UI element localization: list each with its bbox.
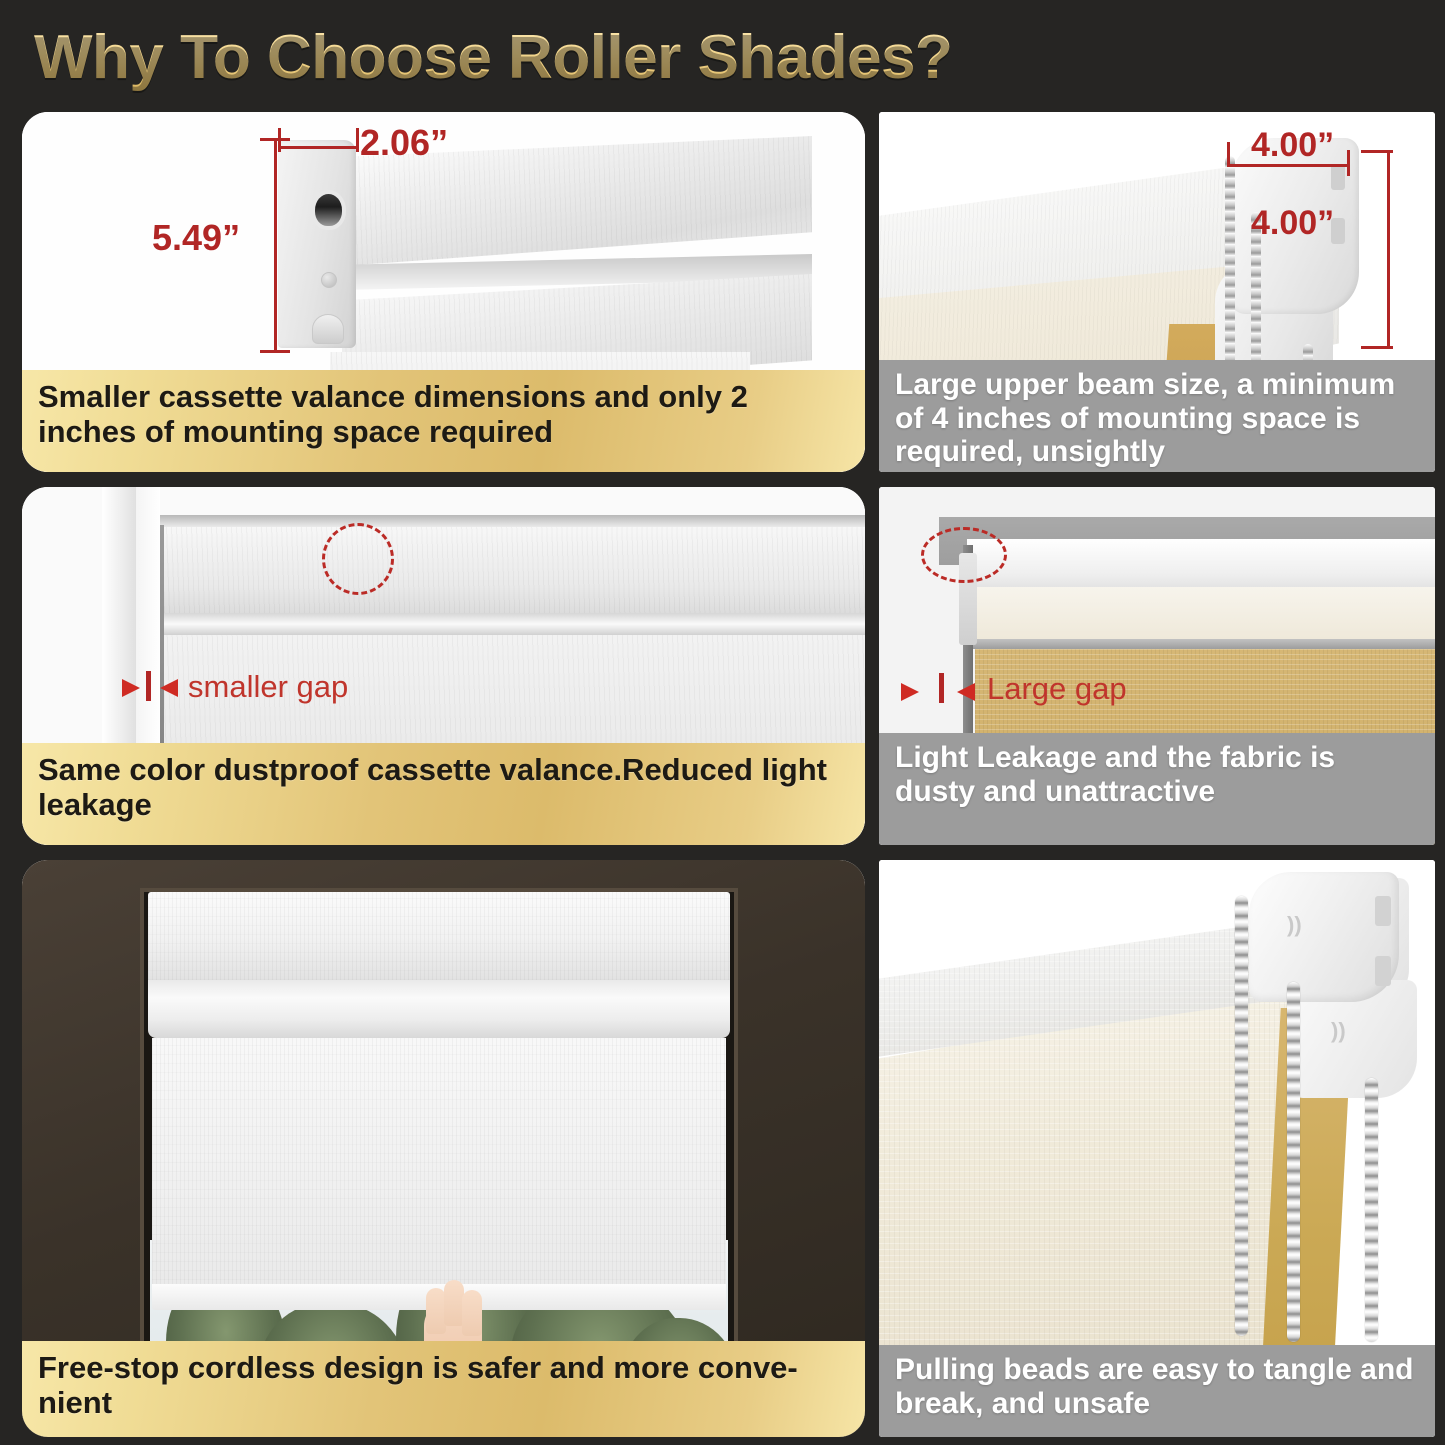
gap-arrow-right	[901, 683, 919, 701]
dimension-height-label: 5.49”	[152, 217, 240, 259]
caption-cassette-valance-dimensions: Smaller cassette valance dimensions and …	[22, 370, 865, 472]
gap-label: smaller gap	[188, 669, 348, 705]
page-title: Why To Choose Roller Shades?	[34, 22, 1034, 94]
panel-cassette-valance-dimensions: 2.06” 5.49” Smaller cassette valance dim…	[22, 112, 865, 472]
caption-free-stop-cordless-design: Free-stop cordless design is safer and m…	[22, 1341, 865, 1437]
panel-pulling-beads-tangle: )) )) Pulling beads are easy to tangle a…	[879, 860, 1435, 1437]
panel-light-leakage-dusty-fabric: Large gap Light Leakage and the fabric i…	[879, 487, 1435, 845]
bead-chain[interactable]	[1365, 1078, 1378, 1342]
panel-free-stop-cordless-design: Free-stop cordless design is safer and m…	[22, 860, 865, 1437]
bead-chain[interactable]	[1235, 896, 1248, 1336]
highlight-circle-gap	[921, 527, 1007, 583]
dimension-height-label: 4.00”	[1251, 204, 1334, 243]
panel-dustproof-cassette-valance: smaller gap Same color dustproof cassett…	[22, 487, 865, 845]
gap-arrow-left	[160, 679, 178, 697]
caption-pulling-beads-tangle: Pulling beads are easy to tangle and bre…	[879, 1345, 1435, 1437]
dimension-width-label: 2.06”	[360, 122, 448, 164]
gap-label: Large gap	[987, 671, 1127, 707]
caption-dustproof-cassette-valance: Same color dustproof cassette valance.Re…	[22, 743, 865, 845]
bracket-knob	[312, 314, 344, 344]
caption-large-upper-beam: Large upper beam size, a minimum of 4 in…	[879, 360, 1435, 472]
screw	[321, 272, 337, 288]
cord-hole	[315, 194, 342, 226]
gap-arrow-left	[957, 683, 975, 701]
comparison-grid: 2.06” 5.49” Smaller cassette valance dim…	[0, 104, 1445, 1445]
bead-chain[interactable]	[1287, 982, 1300, 1342]
gap-arrow-right	[122, 679, 140, 697]
dimension-width-label: 4.00”	[1251, 126, 1334, 165]
panel-large-upper-beam: 4.00” 4.00” Large upper beam size, a min…	[879, 112, 1435, 472]
caption-light-leakage-dusty-fabric: Light Leakage and the fabric is dusty an…	[879, 733, 1435, 845]
infographic-page: Why To Choose Roller Shades? 2.06”	[0, 0, 1445, 1445]
highlight-circle-seal	[322, 523, 394, 595]
